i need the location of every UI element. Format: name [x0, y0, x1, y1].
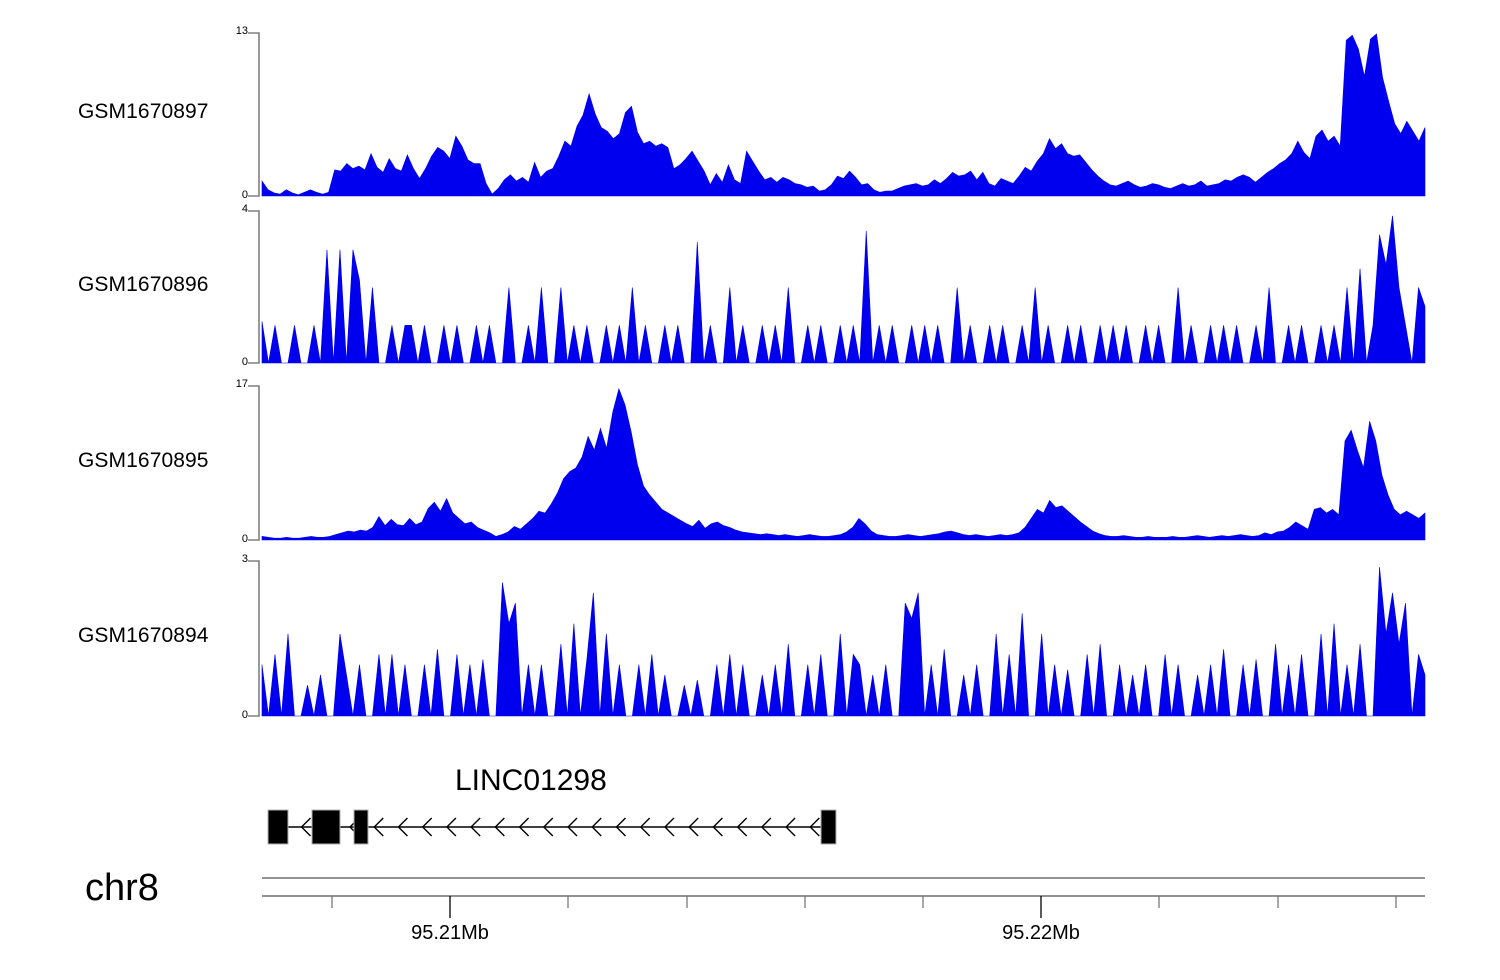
gene-name-label: LINC01298 — [455, 764, 607, 798]
genome-browser: GSM1670897130GSM167089640GSM1670895170GS… — [0, 0, 1500, 980]
exon-box[interactable] — [268, 810, 288, 844]
exon-box[interactable] — [312, 810, 340, 844]
coverage-track[interactable]: GSM167089430 — [0, 560, 1500, 716]
coverage-plot — [0, 560, 1500, 720]
genome-axis-ruler[interactable]: 95.21Mb95.22Mb — [0, 870, 1500, 980]
y-axis-bracket — [248, 386, 259, 540]
y-axis-bracket — [248, 561, 259, 716]
ruler-tick-label: 95.22Mb — [1002, 922, 1080, 945]
coverage-area — [262, 34, 1425, 196]
coverage-plot — [0, 32, 1500, 200]
y-axis-bracket — [248, 33, 259, 196]
y-axis-bracket — [248, 211, 259, 363]
ruler-svg — [0, 870, 1500, 930]
coverage-plot — [0, 385, 1500, 544]
gene-annotation-panel[interactable] — [0, 755, 1500, 870]
coverage-area — [262, 389, 1425, 540]
coverage-track[interactable]: GSM1670897130 — [0, 32, 1500, 196]
coverage-area — [262, 216, 1425, 363]
coverage-track[interactable]: GSM167089640 — [0, 210, 1500, 363]
coverage-track[interactable]: GSM1670895170 — [0, 385, 1500, 540]
ruler-tick-label: 95.21Mb — [411, 922, 489, 945]
exon-box[interactable] — [821, 810, 836, 844]
gene-model-svg[interactable] — [0, 755, 1500, 870]
exon-box[interactable] — [354, 810, 368, 844]
coverage-area — [262, 567, 1425, 716]
coverage-plot — [0, 210, 1500, 367]
